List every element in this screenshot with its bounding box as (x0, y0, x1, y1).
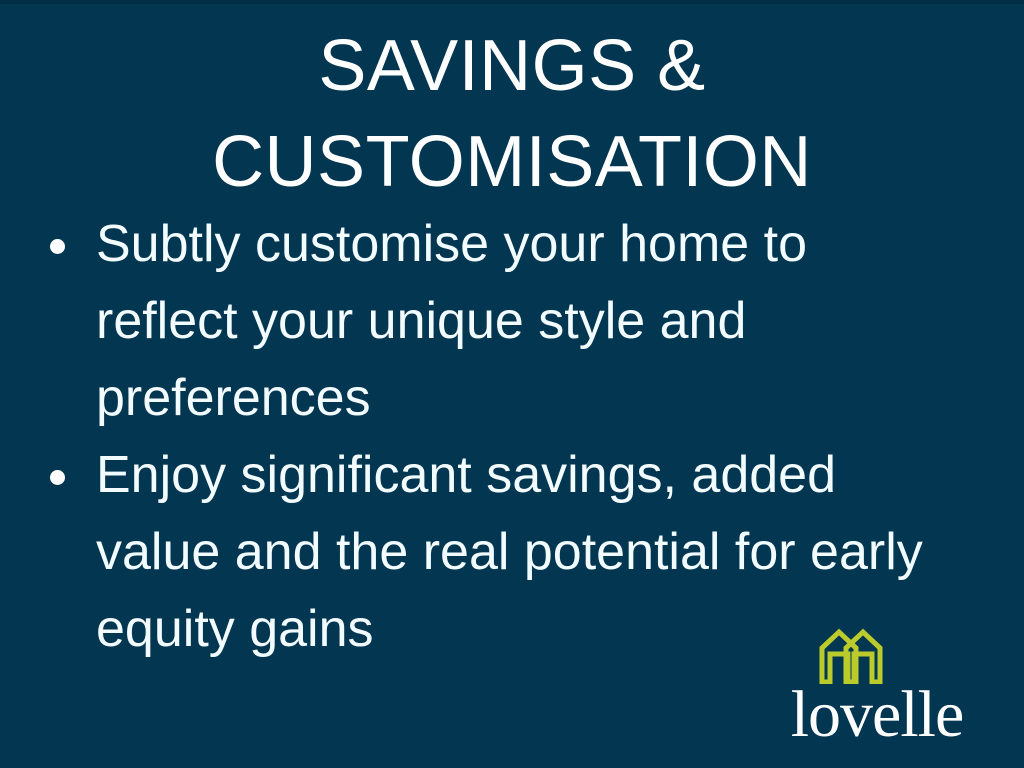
logo-wordmark: lovelle (762, 680, 992, 750)
title-line-2: CUSTOMISATION (0, 114, 1024, 210)
bullet-text: Subtly customise your home to reflect yo… (96, 206, 941, 437)
bullet-dot-icon (50, 470, 65, 485)
lovelle-logo: lovelle (762, 626, 992, 744)
list-item: Subtly customise your home to reflect yo… (44, 206, 974, 437)
slide-top-edge (0, 0, 1024, 4)
slide-canvas: SAVINGS & CUSTOMISATION Subtly customise… (0, 0, 1024, 768)
bullet-list: Subtly customise your home to reflect yo… (44, 206, 974, 668)
slide-title: SAVINGS & CUSTOMISATION (0, 18, 1024, 210)
bullet-dot-icon (50, 239, 65, 254)
double-house-icon (818, 626, 884, 684)
title-line-1: SAVINGS & (0, 18, 1024, 114)
